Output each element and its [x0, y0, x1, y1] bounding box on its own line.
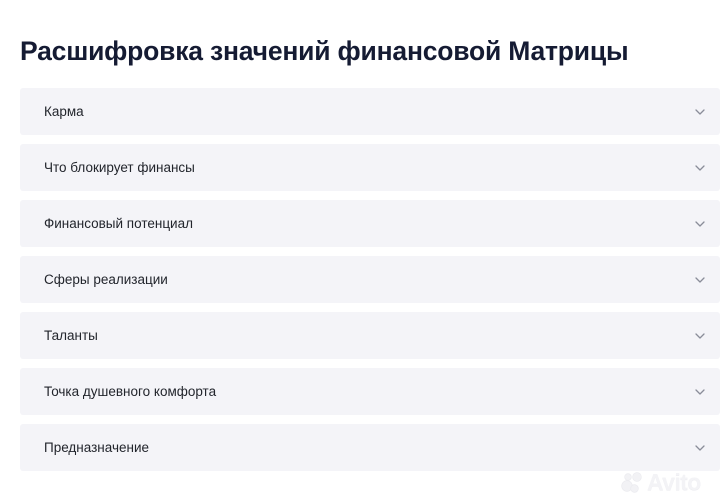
accordion-list: Карма Что блокирует финансы Финансовый п…	[20, 88, 720, 480]
accordion-item-talanty[interactable]: Таланты	[20, 312, 720, 359]
accordion-item-label: Точка душевного комфорта	[44, 383, 216, 401]
accordion-item-prednaznachenie[interactable]: Предназначение	[20, 424, 720, 471]
chevron-down-icon[interactable]	[692, 216, 708, 232]
chevron-down-icon[interactable]	[692, 104, 708, 120]
faq-accordion-page: Расшифровка значений финансовой Матрицы …	[0, 0, 720, 501]
accordion-item-sfery-realizatsii[interactable]: Сферы реализации	[20, 256, 720, 303]
accordion-item-label: Финансовый потенциал	[44, 215, 193, 233]
accordion-item-label: Предназначение	[44, 439, 149, 457]
accordion-item-label: Сферы реализации	[44, 271, 168, 289]
accordion-item-finansovyy-potentsial[interactable]: Финансовый потенциал	[20, 200, 720, 247]
chevron-down-icon[interactable]	[692, 440, 708, 456]
chevron-down-icon[interactable]	[692, 272, 708, 288]
chevron-down-icon[interactable]	[692, 384, 708, 400]
chevron-down-icon[interactable]	[692, 160, 708, 176]
accordion-item-chto-blokiruet-finansy[interactable]: Что блокирует финансы	[20, 144, 720, 191]
accordion-item-label: Что блокирует финансы	[44, 159, 195, 177]
accordion-item-label: Таланты	[44, 327, 98, 345]
accordion-item-label: Карма	[44, 103, 84, 121]
page-title: Расшифровка значений финансовой Матрицы	[20, 34, 720, 68]
accordion-item-tochka-dushevnogo-komforta[interactable]: Точка душевного комфорта	[20, 368, 720, 415]
chevron-down-icon[interactable]	[692, 328, 708, 344]
accordion-item-karma[interactable]: Карма	[20, 88, 720, 135]
